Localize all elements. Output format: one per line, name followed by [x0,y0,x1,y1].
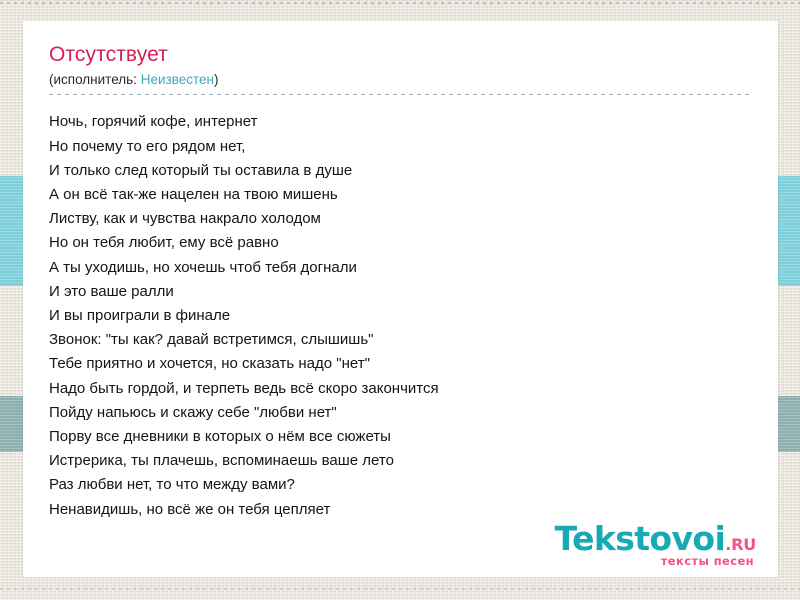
lyric-line: Истрерика, ты плачешь, вспоминаешь ваше … [49,449,752,473]
lyric-line: Но почему то его рядом нет, [49,135,752,159]
artist-label-close: ) [214,72,219,87]
lyric-line: Порву все дневники в которых о нём все с… [49,425,752,449]
lyric-line: Раз любви нет, то что между вами? [49,473,752,497]
lyric-line: Тебе приятно и хочется, но сказать надо … [49,352,752,376]
artist-line: (исполнитель: Неизвестен) [49,71,752,89]
lyric-line: А ты уходишь, но хочешь чтоб тебя догнал… [49,256,752,280]
lyric-line: Но он тебя любит, ему всё равно [49,231,752,255]
logo-wordmark-text: Tekstovoi [555,519,726,558]
logo-tld: .RU [725,535,756,554]
decorative-band-left-lower [0,396,23,452]
site-logo[interactable]: Tekstovoi.RU тексты песен [555,522,756,568]
lyric-line: Надо быть гордой, и терпеть ведь всё ско… [49,377,752,401]
bottom-dotted-rule [0,588,800,590]
header-divider [49,94,752,95]
artist-link[interactable]: Неизвестен [141,72,214,87]
lyric-line: И это ваше ралли [49,280,752,304]
logo-wordmark: Tekstovoi.RU [555,522,756,555]
decorative-band-right-upper [777,176,800,286]
decorative-band-right-lower [777,396,800,452]
lyric-line: Пойду напьюсь и скажу себе "любви нет" [49,401,752,425]
decorative-band-left-upper [0,176,23,286]
lyric-line: Ночь, горячий кофе, интернет [49,110,752,134]
lyric-line: И вы проиграли в финале [49,304,752,328]
page-title: Отсутствует [49,43,752,68]
top-dotted-rule [0,2,800,4]
lyrics-card: Отсутствует (исполнитель: Неизвестен) Но… [23,21,778,577]
lyrics-body: Ночь, горячий кофе, интернет Но почему т… [49,110,752,521]
lyric-line: И только след который ты оставила в душе [49,159,752,183]
lyric-line: Листву, как и чувства накрало холодом [49,207,752,231]
lyric-line: А он всё так-же нацелен на твою мишень [49,183,752,207]
lyric-line: Звонок: "ты как? давай встретимся, слыши… [49,328,752,352]
artist-label: (исполнитель: [49,72,137,87]
